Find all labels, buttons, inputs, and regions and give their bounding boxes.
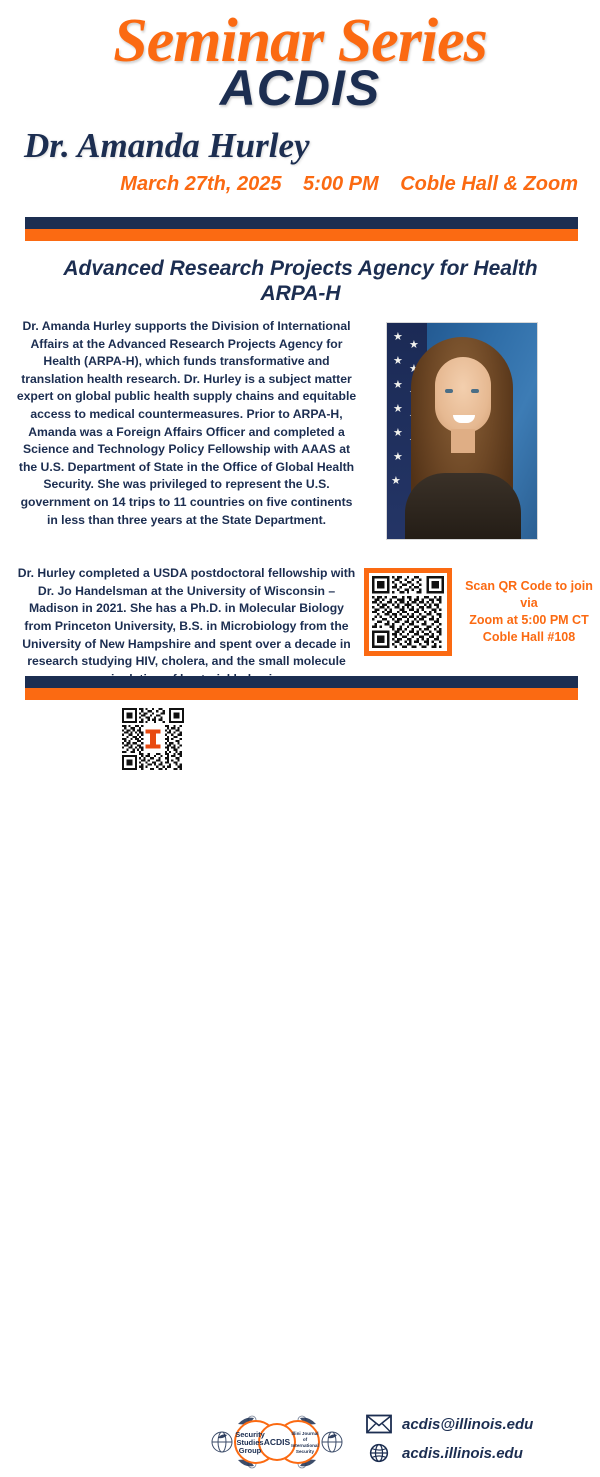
logo-circle1-line3: Group — [239, 1446, 262, 1455]
illinois-qr-code[interactable] — [122, 708, 184, 770]
photo-torso — [405, 473, 521, 539]
qr-code-icon — [372, 576, 444, 648]
envelope-icon — [366, 1414, 392, 1434]
event-time: 5:00 PM — [303, 173, 379, 195]
divider-bars-bottom — [25, 676, 578, 700]
divider-bars-top — [25, 217, 578, 241]
zoom-qr-block: Scan QR Code to join via Zoom at 5:00 PM… — [364, 568, 594, 656]
speaker-photo: ★ ★ ★ ★ ★ ★ ★ ★ ★ ★ ★ ★ — [386, 322, 538, 540]
talk-title-line2: ARPA-H — [28, 281, 573, 306]
email-address: acdis@illinois.edu — [402, 1416, 533, 1433]
event-location: Coble Hall & Zoom — [400, 173, 578, 195]
zoom-qr-code[interactable] — [364, 568, 452, 656]
logo-circle3-line2: of — [303, 1437, 308, 1442]
divider-bar-navy-bottom — [25, 676, 578, 688]
photo-neck — [451, 429, 475, 453]
org-name-title: ACDIS — [0, 60, 600, 116]
talk-title-line1: Advanced Research Projects Agency for He… — [28, 256, 573, 281]
seminar-poster: Seminar Series ACDIS Dr. Amanda Hurley M… — [0, 0, 600, 777]
contact-email-row[interactable]: acdis@illinois.edu — [366, 1414, 533, 1434]
website-url: acdis.illinois.edu — [402, 1445, 523, 1462]
logo-circle3-line3: International — [291, 1443, 319, 1448]
bio-paragraph-2: Dr. Hurley completed a USDA postdoctoral… — [14, 565, 359, 688]
divider-bar-orange — [25, 229, 578, 241]
illinois-qr-code-icon — [122, 708, 184, 770]
divider-bar-orange-bottom — [25, 688, 578, 700]
poster-footer: Security Studies Group ACDIS Illini Jour… — [0, 704, 600, 777]
event-details: March 27th, 2025 5:00 PM Coble Hall & Zo… — [120, 172, 578, 196]
event-date: March 27th, 2025 — [120, 173, 281, 195]
logo-circle2-text: ACDIS — [264, 1437, 291, 1447]
zoom-qr-caption: Scan QR Code to join via Zoom at 5:00 PM… — [464, 578, 594, 646]
contact-website-row[interactable]: acdis.illinois.edu — [366, 1443, 533, 1463]
qr-caption-line2: Zoom at 5:00 PM CT — [464, 612, 594, 629]
qr-caption-line1: Scan QR Code to join via — [464, 578, 594, 612]
photo-eye-right — [471, 389, 479, 393]
contact-block: acdis@illinois.edu acdis.illinois.edu — [366, 1414, 533, 1472]
globe-icon — [366, 1443, 392, 1463]
photo-eye-left — [445, 389, 453, 393]
poster-header: Seminar Series ACDIS Dr. Amanda Hurley M… — [0, 0, 600, 212]
acdis-venn-logo: Security Studies Group ACDIS Illini Jour… — [208, 1412, 346, 1472]
logo-circle3-line1: Illini Journal — [291, 1431, 318, 1436]
acdis-logo-icon: Security Studies Group ACDIS Illini Jour… — [208, 1412, 346, 1472]
qr-caption-line3: Coble Hall #108 — [464, 629, 594, 646]
bio-paragraph-1: Dr. Amanda Hurley supports the Division … — [14, 318, 359, 529]
talk-title: Advanced Research Projects Agency for He… — [28, 256, 573, 306]
bio-column: Dr. Amanda Hurley supports the Division … — [14, 318, 359, 688]
divider-bar-navy — [25, 217, 578, 229]
logo-circle3-line4: Security — [296, 1449, 315, 1454]
speaker-name: Dr. Amanda Hurley — [24, 126, 310, 166]
